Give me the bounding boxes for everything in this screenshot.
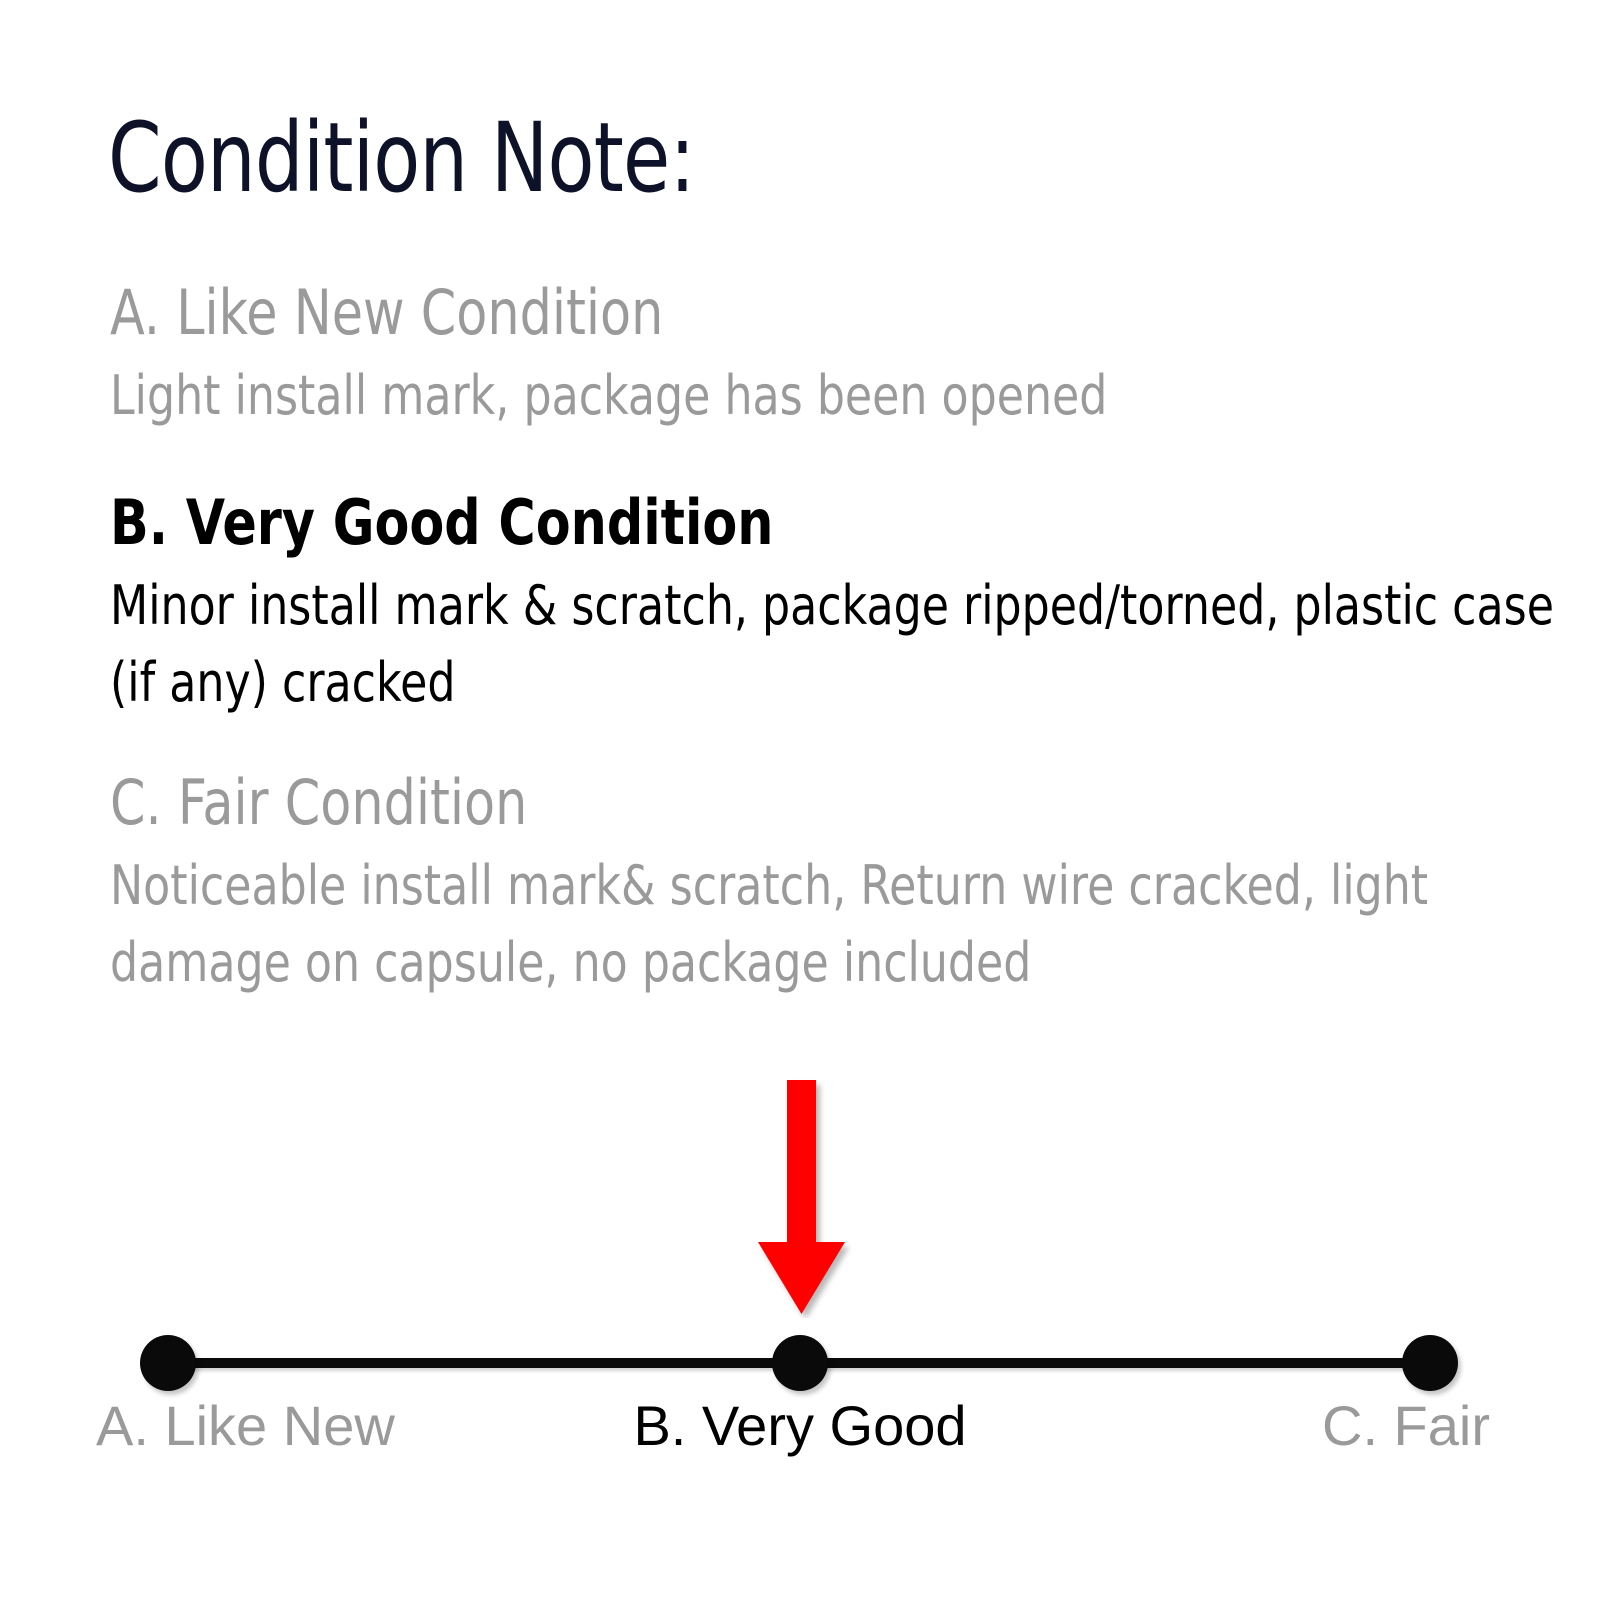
condition-a-heading: A. Like New Condition bbox=[110, 282, 1307, 344]
scale-label-a: A. Like New bbox=[0, 1398, 420, 1454]
condition-block-a: A. Like New Condition Light install mark… bbox=[110, 282, 1570, 435]
condition-a-description: Light install mark, package has been ope… bbox=[110, 358, 1570, 435]
condition-b-heading: B. Very Good Condition bbox=[110, 492, 1307, 554]
scale-point-a[interactable] bbox=[140, 1335, 196, 1391]
scale-point-c[interactable] bbox=[1402, 1335, 1458, 1391]
condition-block-c: C. Fair Condition Noticeable install mar… bbox=[110, 772, 1570, 1001]
down-arrow-icon bbox=[745, 1078, 855, 1318]
page-title: Condition Note: bbox=[108, 110, 695, 206]
condition-c-description: Noticeable install mark& scratch, Return… bbox=[110, 848, 1570, 1001]
condition-c-heading: C. Fair Condition bbox=[110, 772, 1307, 834]
condition-b-description: Minor install mark & scratch, package ri… bbox=[110, 568, 1570, 721]
condition-block-b: B. Very Good Condition Minor install mar… bbox=[110, 492, 1570, 721]
condition-note-page: Condition Note: A. Like New Condition Li… bbox=[0, 0, 1600, 1600]
scale-label-b: B. Very Good bbox=[560, 1398, 1040, 1454]
scale-label-c: C. Fair bbox=[1230, 1398, 1590, 1454]
scale-point-b[interactable] bbox=[772, 1335, 828, 1391]
